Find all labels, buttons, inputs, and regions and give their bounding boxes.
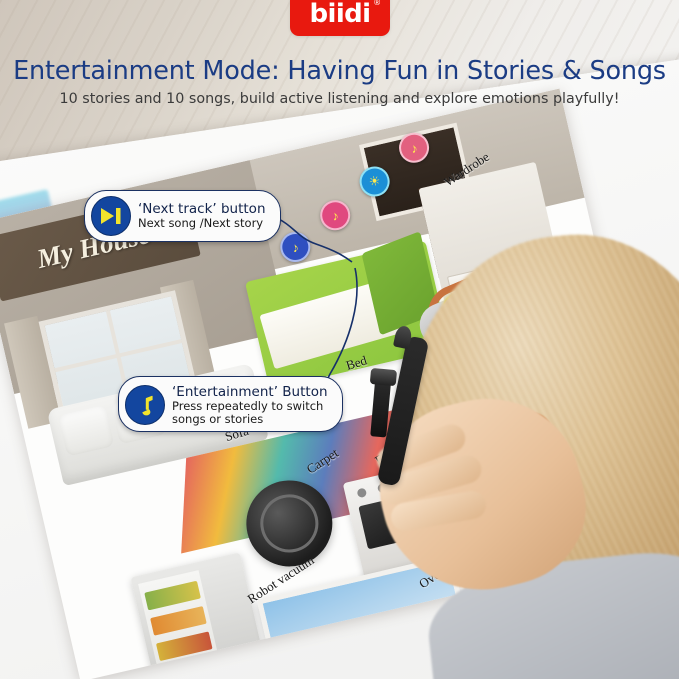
next-track-glyph — [100, 207, 122, 225]
page-subheadline: 10 stories and 10 songs, build active li… — [0, 91, 679, 107]
callout-next-track-subtitle: Next song /Next story — [138, 217, 266, 230]
mode-button-glyph: ♪ — [409, 140, 419, 156]
screenshot-root: My House — [0, 0, 679, 679]
brand-logo: biidi ® — [290, 0, 390, 36]
mode-button-glyph: ☀ — [367, 172, 382, 190]
registered-mark: ® — [373, 0, 380, 7]
fridge-shelf — [144, 581, 201, 611]
callout-entertainment[interactable]: ‘Entertainment’ Button Press repeatedly … — [118, 376, 343, 432]
fridge-shelf — [150, 606, 207, 636]
music-note-glyph — [135, 394, 155, 416]
sofa-cushion — [58, 405, 114, 457]
callout-next-track-text: ‘Next track’ button Next song /Next stor… — [138, 202, 266, 230]
brand-name: biidi — [310, 0, 371, 29]
mode-button-glyph: ♪ — [290, 239, 300, 255]
callout-entertainment-title: ‘Entertainment’ Button — [172, 385, 328, 400]
brand-logo-text: biidi ® — [310, 1, 371, 36]
oven-knob — [356, 487, 367, 498]
callout-next-track-title: ‘Next track’ button — [138, 202, 266, 217]
callout-entertainment-subtitle-2: songs or stories — [172, 413, 328, 426]
mode-button-glyph: ♪ — [330, 207, 340, 223]
page-headline: Entertainment Mode: Having Fun in Storie… — [0, 56, 679, 86]
music-note-icon — [125, 385, 165, 425]
callout-entertainment-text: ‘Entertainment’ Button Press repeatedly … — [172, 385, 328, 426]
next-track-icon — [91, 196, 131, 236]
callout-next-track[interactable]: ‘Next track’ button Next song /Next stor… — [84, 190, 281, 242]
